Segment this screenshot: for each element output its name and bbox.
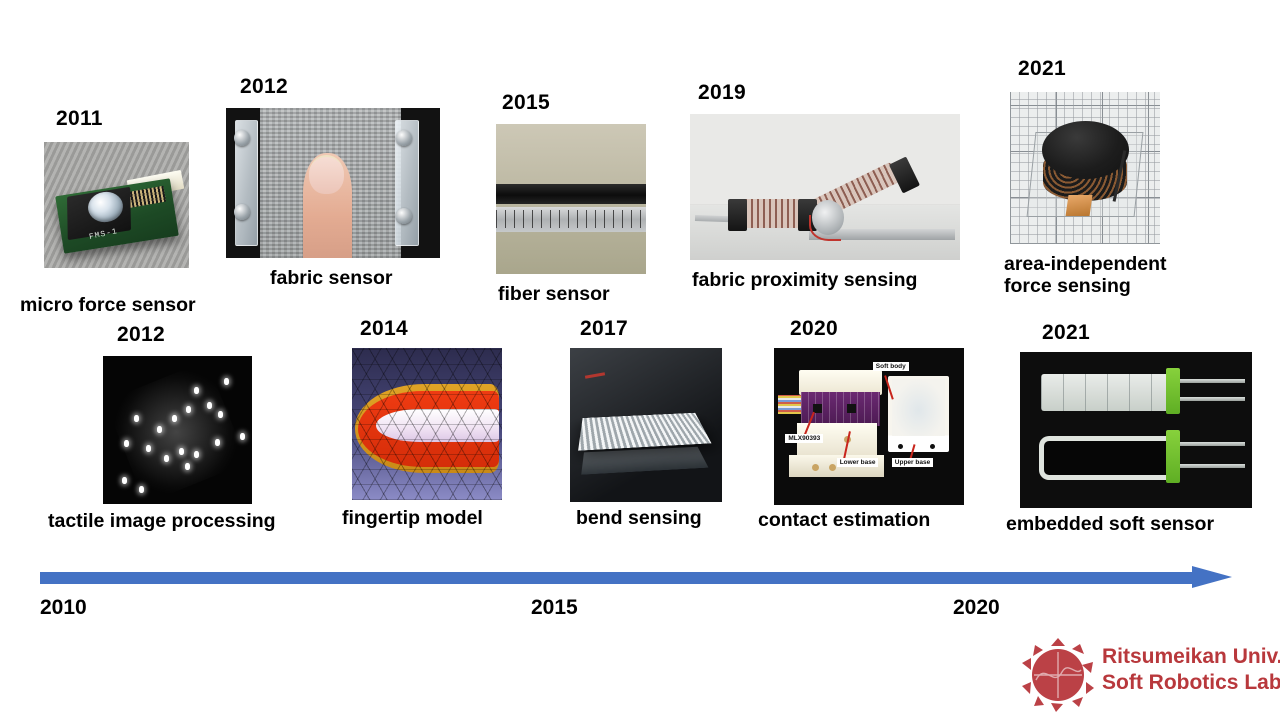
screw xyxy=(234,204,250,220)
caption-label: embedded soft sensor xyxy=(1006,514,1214,536)
year-label: 2014 xyxy=(360,318,408,339)
micro-force-sensor-photo: FMS-1 xyxy=(44,142,189,268)
timeline-arrow xyxy=(40,566,1232,588)
callout-upper-base: Upper base xyxy=(892,458,933,467)
marker-dot xyxy=(194,387,199,394)
gear-circle-logo-icon xyxy=(1018,636,1098,714)
fingernail xyxy=(309,155,343,194)
year-label: 2017 xyxy=(580,318,628,339)
timeline-arrow-bar xyxy=(40,572,1192,584)
lab-logo: Ritsumeikan Univ. Soft Robotics Lab. xyxy=(1018,634,1276,716)
copper-tape-lead xyxy=(1066,195,1093,216)
fabric-sensor-photo xyxy=(226,108,440,258)
sensor-pcb xyxy=(801,392,881,427)
soft-body-part xyxy=(892,379,945,436)
callout-chip: MLX90393 xyxy=(785,434,823,443)
lead-wire xyxy=(1180,464,1245,468)
fabric-proximity-sensing-photo xyxy=(690,114,960,260)
marker-dot xyxy=(240,433,245,440)
marker-dot xyxy=(172,415,177,422)
year-label: 2011 xyxy=(56,108,103,129)
link-cuff xyxy=(889,157,920,194)
caption-label: contact estimation xyxy=(758,510,930,532)
marker-dot xyxy=(122,477,127,484)
caption-label: fingertip model xyxy=(342,508,483,530)
caption-label: fabric sensor xyxy=(270,268,392,290)
logo-text-block: Ritsumeikan Univ. Soft Robotics Lab. xyxy=(1102,644,1280,695)
mlx90393-chip xyxy=(813,404,822,413)
marker-dot xyxy=(185,463,190,470)
year-label: 2012 xyxy=(240,76,288,97)
year-label: 2021 xyxy=(1018,58,1066,79)
lead-wire xyxy=(1180,379,1245,383)
black-disc-cap xyxy=(1042,121,1129,179)
marker-dot xyxy=(218,411,223,418)
marker-dot xyxy=(215,439,220,446)
contact-estimation-photo: Soft body MLX90393 Lower base Upper base xyxy=(774,348,964,505)
embedded-soft-sensor-photo xyxy=(1020,352,1252,508)
alignment-dot xyxy=(898,444,903,449)
year-label: 2019 xyxy=(698,82,746,103)
lead-wire xyxy=(1180,397,1245,401)
caption-label: micro force sensor xyxy=(20,295,196,317)
axis-tick-2015: 2015 xyxy=(531,596,578,620)
soft-beam-hollow-section xyxy=(1039,436,1176,480)
caption-label: tactile image processing xyxy=(48,511,276,533)
ruler-ticks xyxy=(496,210,646,228)
marker-dot xyxy=(139,486,144,493)
caption-label-line2: force sensing xyxy=(1004,276,1131,298)
marker-dot xyxy=(194,451,199,458)
marker-dot xyxy=(164,455,169,462)
logo-line-1: Ritsumeikan Univ. xyxy=(1102,644,1280,670)
lead-wire xyxy=(585,372,605,378)
callout-lower-base: Lower base xyxy=(837,458,879,467)
caption-label: bend sensing xyxy=(576,508,702,530)
marker-dot xyxy=(224,378,229,385)
marker-dot xyxy=(124,440,129,447)
lead-wire xyxy=(1180,442,1245,446)
ribbed-sensing-sheet xyxy=(578,413,711,451)
screw xyxy=(396,130,412,146)
timeline-slide: 2011 FMS-1 micro force sensor 2012 fabri… xyxy=(0,0,1280,720)
fiber-sensor-strand xyxy=(496,184,646,204)
logo-line-2: Soft Robotics Lab. xyxy=(1102,670,1280,696)
area-independent-force-sensing-photo xyxy=(1010,92,1160,244)
ribbon-cable xyxy=(778,395,803,414)
link-cuff xyxy=(728,199,747,231)
caption-label-line1: area-independent xyxy=(1004,254,1167,276)
screw xyxy=(234,130,250,146)
alignment-dot xyxy=(930,444,935,449)
marker-dot xyxy=(146,445,151,452)
axis-tick-2010: 2010 xyxy=(40,596,87,620)
green-clamp xyxy=(1166,368,1180,415)
year-label: 2020 xyxy=(790,318,838,339)
acrylic-substrate xyxy=(581,447,708,475)
fiber-sensor-photo xyxy=(496,124,646,274)
axis-tick-2020: 2020 xyxy=(953,596,1000,620)
year-label: 2015 xyxy=(502,92,550,113)
screw xyxy=(396,208,412,224)
tactile-image-processing-photo xyxy=(103,356,252,504)
fem-mesh-overlay xyxy=(352,348,502,500)
mlx90393-chip xyxy=(847,404,856,413)
marker-dot xyxy=(207,402,212,409)
year-label: 2021 xyxy=(1042,322,1090,343)
marker-dot xyxy=(179,448,184,455)
caption-label: fiber sensor xyxy=(498,284,610,306)
year-label: 2012 xyxy=(117,324,165,345)
soft-beam-ribbed xyxy=(1041,374,1176,411)
callout-soft-body: Soft body xyxy=(873,362,909,371)
marker-dot xyxy=(157,426,162,433)
green-clamp xyxy=(1166,430,1180,483)
fingertip-model-photo xyxy=(352,348,502,500)
caption-label: fabric proximity sensing xyxy=(692,270,917,292)
bend-sensing-photo xyxy=(570,348,722,502)
timeline-arrow-head-icon xyxy=(1192,566,1232,588)
